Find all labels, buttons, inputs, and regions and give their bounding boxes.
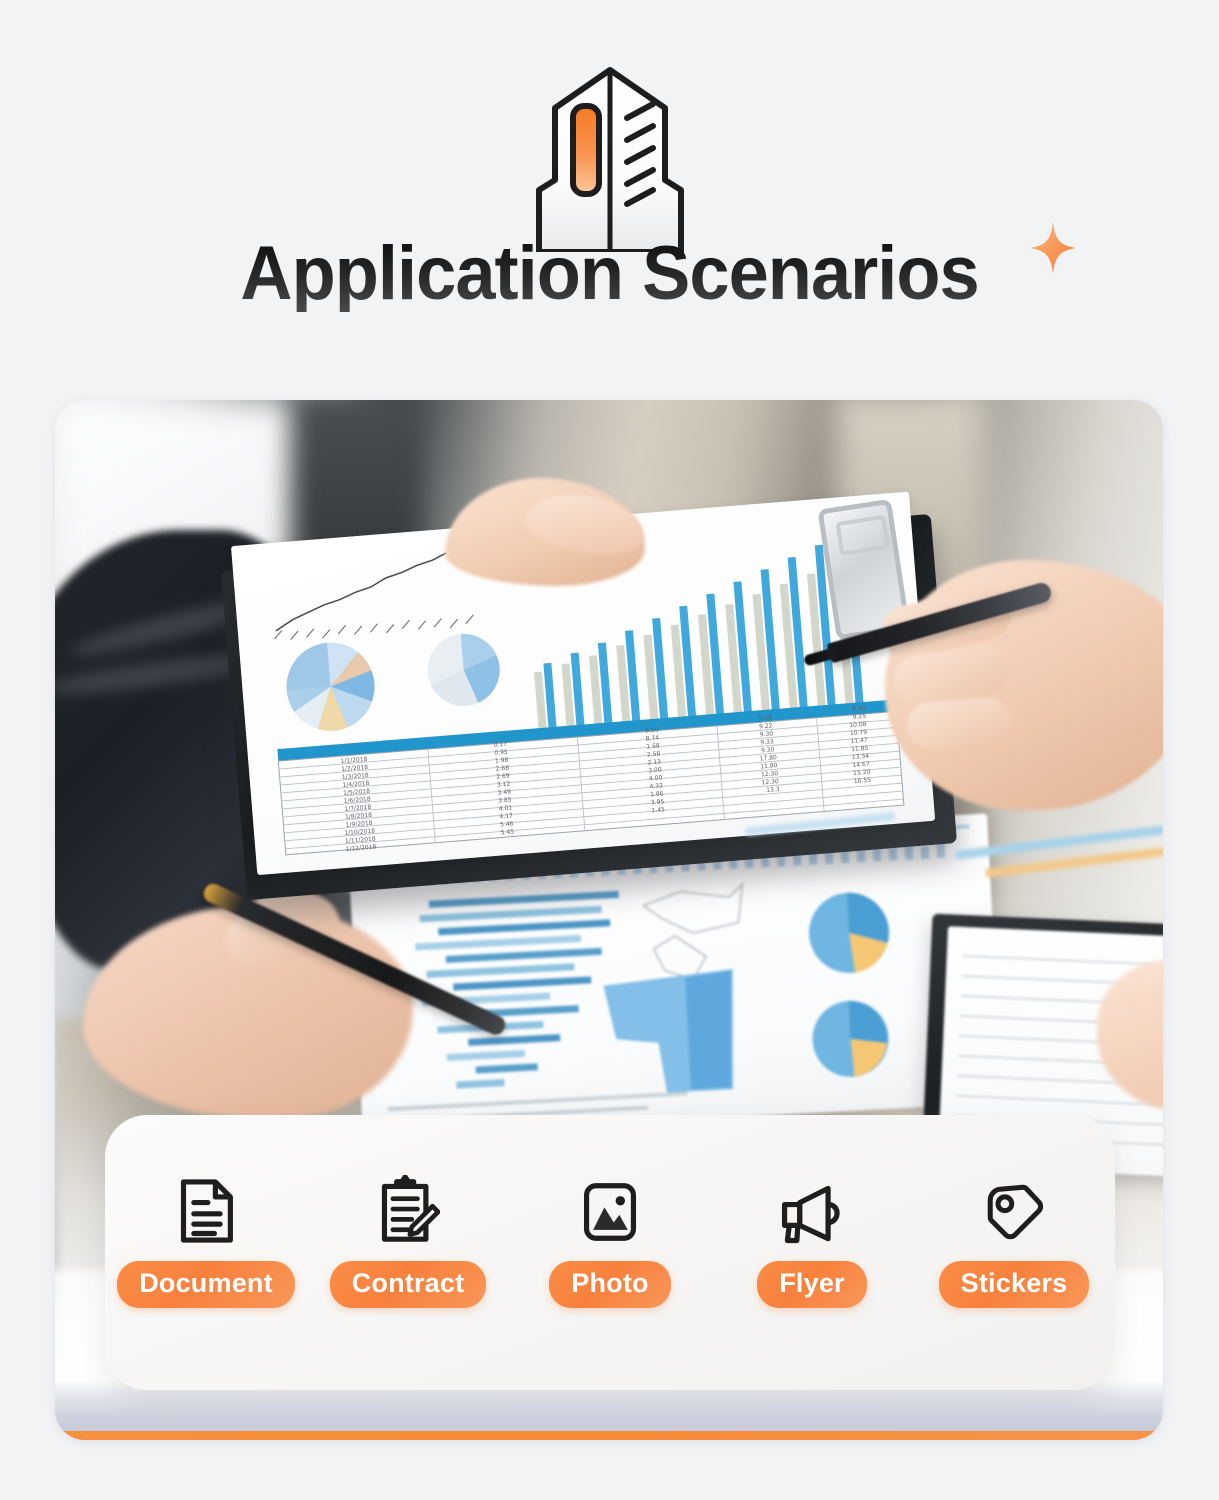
chip-document[interactable]: Document <box>113 1167 299 1308</box>
svg-text:3.49: 3.49 <box>497 789 511 797</box>
svg-text:1.45: 1.45 <box>651 806 665 814</box>
scenario-chips-panel: Document <box>105 1115 1115 1390</box>
svg-text:4.00: 4.00 <box>649 774 663 782</box>
svg-text:9.30: 9.30 <box>761 746 775 754</box>
image-picture-icon <box>580 1167 640 1245</box>
four-point-sparkle-icon <box>1030 222 1076 274</box>
svg-text:3.00: 3.00 <box>648 766 662 774</box>
svg-text:5.46: 5.46 <box>500 820 514 828</box>
svg-text:16.55: 16.55 <box>854 777 872 785</box>
svg-text:11.80: 11.80 <box>760 762 778 770</box>
svg-text:0.17: 0.17 <box>493 741 507 749</box>
svg-text:13.3: 13.3 <box>766 786 780 794</box>
chip-label-document[interactable]: Document <box>117 1261 295 1308</box>
svg-text:1.58: 1.58 <box>646 742 660 750</box>
svg-text:4.33: 4.33 <box>649 782 663 790</box>
page-title: Application Scenarios <box>240 236 978 312</box>
scenario-chips-row: Document <box>105 1167 1115 1308</box>
svg-text:1/12/2018: 1/12/2018 <box>345 844 376 853</box>
chip-label-flyer[interactable]: Flyer <box>757 1261 867 1308</box>
svg-text:9.33: 9.33 <box>760 738 774 746</box>
svg-text:4.01: 4.01 <box>499 804 513 812</box>
chip-flyer[interactable]: Flyer <box>719 1167 905 1308</box>
svg-text:2.58: 2.58 <box>647 750 661 758</box>
price-tag-icon <box>982 1167 1046 1245</box>
finger <box>906 696 1013 749</box>
chip-label-photo[interactable]: Photo <box>549 1261 670 1308</box>
header-section: Application Scenarios <box>0 0 1219 390</box>
svg-text:9.25: 9.25 <box>852 713 866 721</box>
svg-text:8.50: 8.50 <box>645 727 659 735</box>
svg-text:8.50: 8.50 <box>852 705 866 713</box>
clipboard-pencil-icon <box>376 1167 440 1245</box>
svg-text:12.30: 12.30 <box>761 770 779 778</box>
svg-text:17.80: 17.80 <box>759 754 777 762</box>
svg-text:10.79: 10.79 <box>850 729 868 737</box>
chip-stickers[interactable]: Stickers <box>921 1167 1107 1308</box>
svg-text:2.13: 2.13 <box>647 758 661 766</box>
chip-label-stickers[interactable]: Stickers <box>939 1261 1090 1308</box>
svg-text:1.98: 1.98 <box>495 757 509 765</box>
svg-text:11.85: 11.85 <box>851 745 869 753</box>
svg-text:15.20: 15.20 <box>853 769 871 777</box>
svg-text:3.85: 3.85 <box>498 797 512 805</box>
svg-text:9.30: 9.30 <box>760 730 774 738</box>
svg-text:3.12: 3.12 <box>497 781 511 789</box>
svg-text:1.86: 1.86 <box>650 790 664 798</box>
svg-text:4.17: 4.17 <box>499 812 513 820</box>
svg-text:3.95: 3.95 <box>651 798 665 806</box>
document-page-icon <box>176 1167 236 1245</box>
skyscraper-building-icon <box>505 62 715 252</box>
megaphone-icon <box>777 1167 847 1245</box>
svg-text:10.08: 10.08 <box>849 721 867 729</box>
svg-text:9.22: 9.22 <box>759 722 773 730</box>
chip-photo[interactable]: Photo <box>517 1167 703 1308</box>
svg-text:14.67: 14.67 <box>852 761 870 769</box>
chip-label-contract[interactable]: Contract <box>330 1261 487 1308</box>
chip-contract[interactable]: Contract <box>315 1167 501 1308</box>
card-accent-bar <box>55 1431 1163 1440</box>
svg-text:2.68: 2.68 <box>495 765 509 773</box>
svg-text:12.30: 12.30 <box>761 778 779 786</box>
svg-text:11.47: 11.47 <box>850 737 868 745</box>
svg-text:0.95: 0.95 <box>494 749 508 757</box>
svg-text:8.74: 8.74 <box>645 734 659 742</box>
application-scenarios-page: Application Scenarios <box>0 0 1219 1500</box>
svg-text:9.50: 9.50 <box>758 714 772 722</box>
svg-text:5.45: 5.45 <box>501 828 515 836</box>
svg-text:13.34: 13.34 <box>852 753 870 761</box>
svg-text:2.69: 2.69 <box>496 773 510 781</box>
